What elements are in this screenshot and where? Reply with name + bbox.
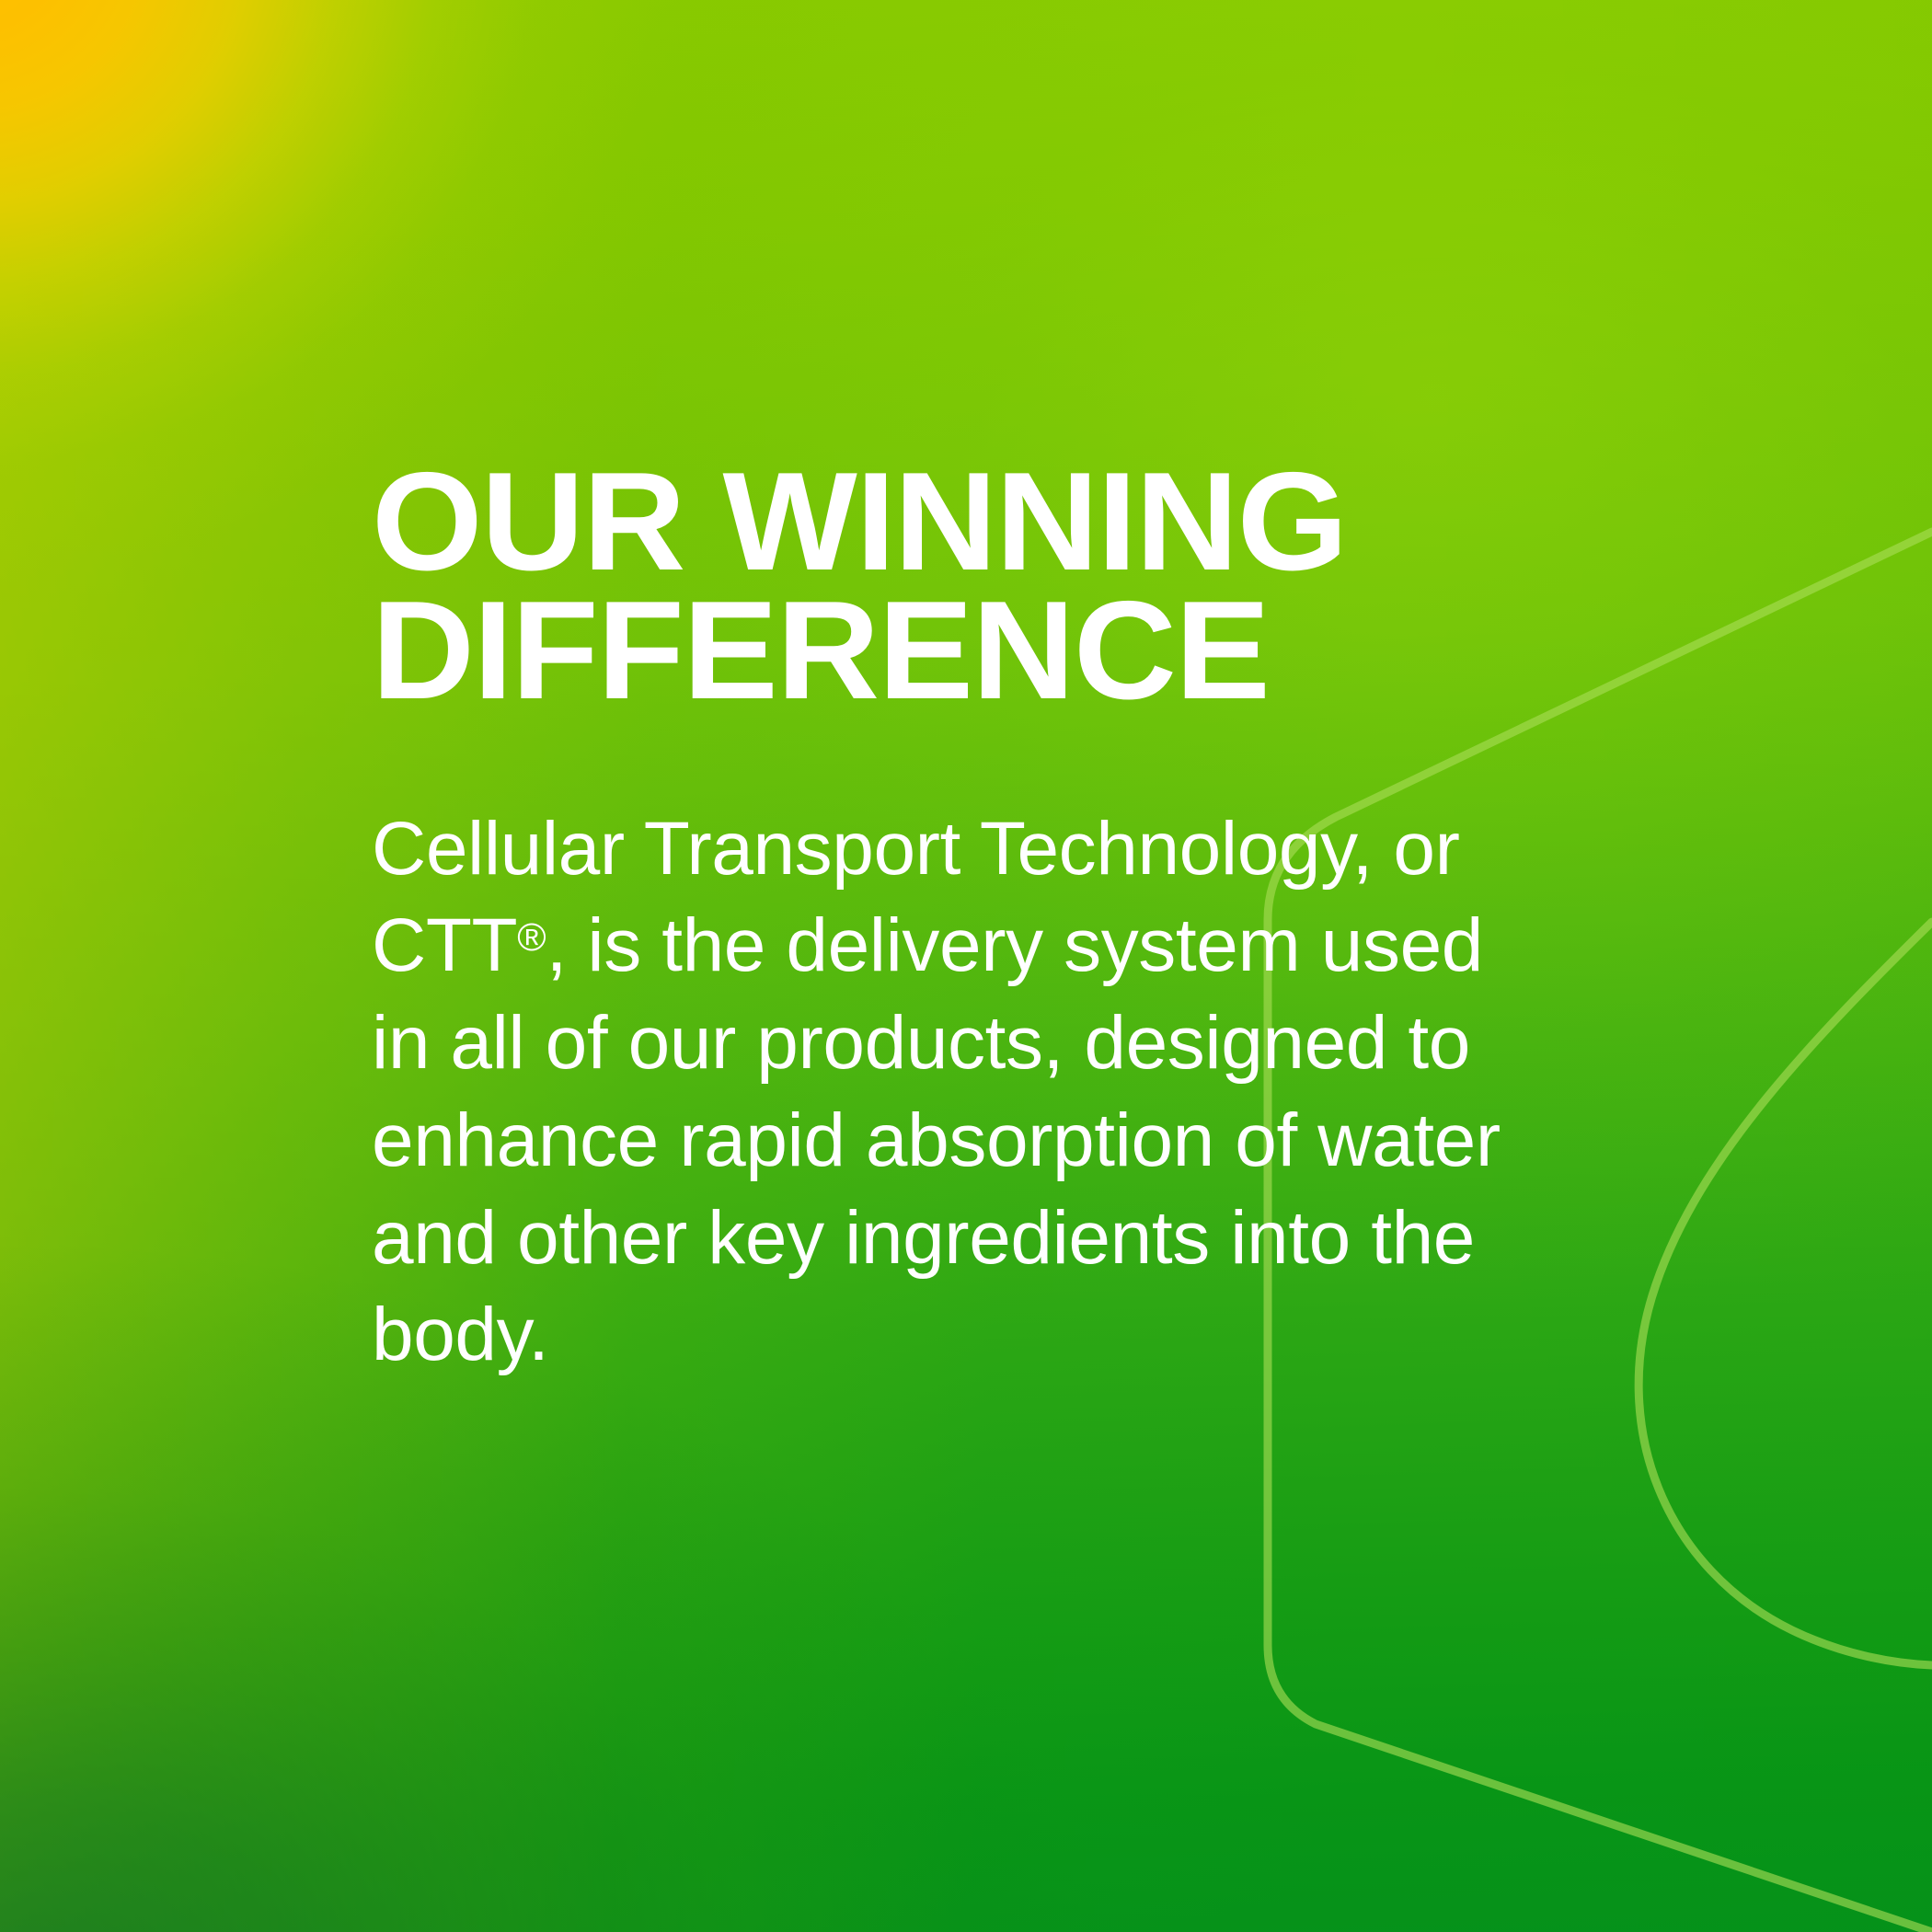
body-paragraph: Cellular Transport Technology, or CTT®, … xyxy=(372,716,1558,1385)
body-text-after-mark: , is the delivery system used in all of … xyxy=(372,903,1501,1376)
page-title: OUR WINNING DIFFERENCE xyxy=(372,458,1610,716)
promo-card: OUR WINNING DIFFERENCE Cellular Transpor… xyxy=(0,0,1932,1932)
registered-trademark-icon: ® xyxy=(517,915,546,960)
copy-block: OUR WINNING DIFFERENCE Cellular Transpor… xyxy=(372,458,1586,1384)
